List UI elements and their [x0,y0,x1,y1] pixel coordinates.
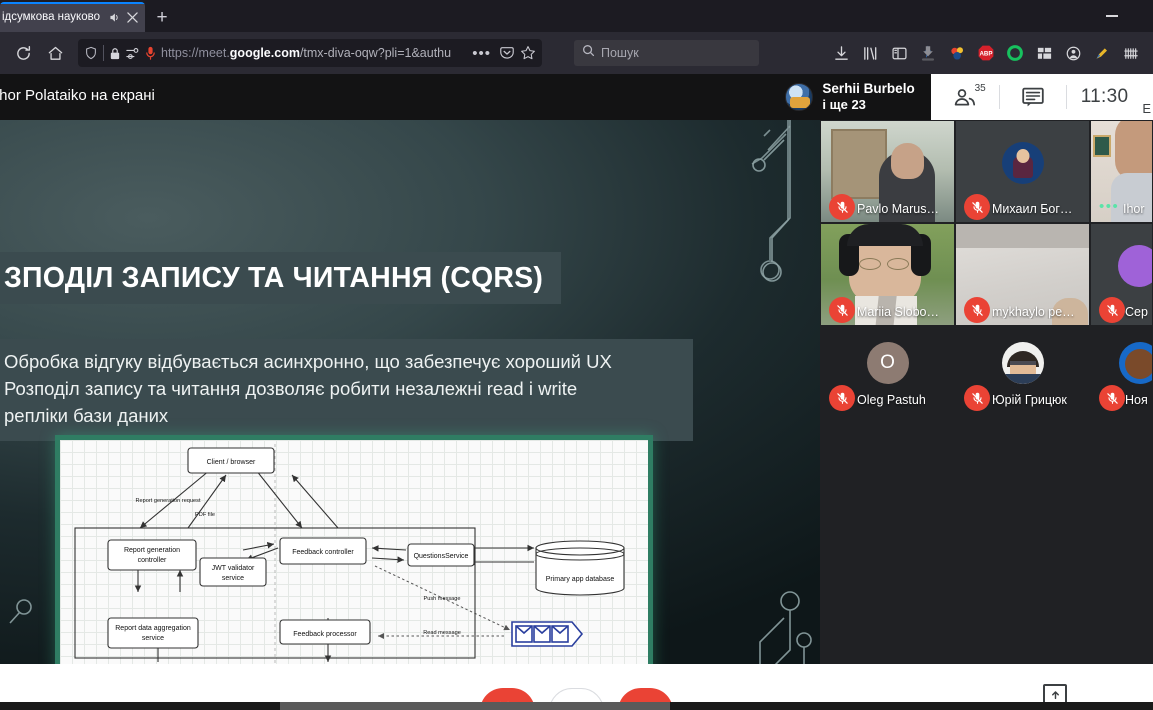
account-icon[interactable] [1063,43,1083,63]
clock-extra-text: Е [1142,101,1151,120]
urlbar-divider [103,45,104,61]
avatar-initial: O [867,342,909,384]
avatar-initial-letter: O [880,352,895,374]
participant-name: mykhaylo pe… [992,305,1075,319]
participant-tile[interactable]: Михаил Бог… [955,120,1090,223]
svg-text:Report generation: Report generation [124,547,180,554]
lock-icon[interactable] [109,47,121,60]
svg-text:Report data aggregation: Report data aggregation [115,625,191,632]
people-button[interactable]: 35 [933,74,999,120]
participant-tile[interactable]: ••• Ihor [1090,120,1153,223]
host-others: і ще 23 [822,97,914,113]
svg-text:ABP: ABP [979,50,992,57]
host-avatar [785,83,813,111]
slide-bullet: Обробка відгуку відбувається асинхронно,… [4,348,677,375]
mic-muted-icon [964,194,990,220]
participant-name: Михаил Бог… [992,202,1072,216]
meet-top-bar: Ihor Polataiko на екрані Serhii Burbelo … [0,74,1153,120]
close-icon[interactable] [125,10,139,24]
people-count: 35 [975,83,986,94]
adblock-plus-icon[interactable]: ABP [976,43,996,63]
scrollbar-thumb[interactable] [280,702,670,710]
diagram-svg: Client / browser Report generation contr… [60,440,648,664]
svg-text:Client / browser: Client / browser [207,459,256,466]
window-minimize-button[interactable] [1101,8,1123,24]
participant-tile[interactable]: Юрій Грицюк [955,326,1090,414]
browser-tabstrip: ідсумкова науково + [0,0,1153,32]
participant-name: Oleg Pastuh [857,393,926,407]
home-icon[interactable] [40,38,70,68]
meeting-clock: 11:30 [1067,86,1143,108]
participant-name: Mariia Slobo… [857,305,939,319]
participant-tile[interactable]: Pavlo Marus… [820,120,955,223]
participants-rail: Pavlo Marus… Михаил Бог… • [820,120,1153,664]
svg-text:Feedback controller: Feedback controller [292,549,354,556]
participant-tile[interactable]: O Oleg Pastuh [820,326,955,414]
browser-navbar: https://meet.google.com/tmx-diva-oqw?pli… [0,32,1153,74]
mic-muted-icon [1099,297,1125,323]
sidebar-icon[interactable] [889,43,909,63]
url-text: https://meet.google.com/tmx-diva-oqw?pli… [161,46,464,60]
participant-row: O Oleg Pastuh [820,326,1153,414]
participant-tile[interactable]: Mariia Slobo… [820,223,955,326]
permissions-icon[interactable] [126,47,140,60]
horizontal-scrollbar[interactable] [0,702,1153,710]
participant-name: Сер [1125,305,1148,319]
mic-muted-icon [829,385,855,411]
colorzilla-icon[interactable] [947,43,967,63]
svg-text:Feedback processor: Feedback processor [293,631,357,638]
svg-text:Primary app database: Primary app database [546,576,615,583]
mic-muted-icon [829,194,855,220]
slide-bullet: репліки бази даних [4,402,677,429]
google-meet-app: Ihor Polataiko на екрані Serhii Burbelo … [0,74,1153,710]
chat-button[interactable] [1000,74,1066,120]
avatar [1118,245,1153,287]
keyboard-icon[interactable] [1121,43,1141,63]
search-input[interactable]: Пошук [574,40,759,66]
grammar-circle-icon[interactable] [1005,43,1025,63]
host-name: Serhii Burbelo [822,81,914,97]
svg-text:controller: controller [138,557,167,564]
star-icon[interactable] [520,45,536,61]
meet-top-actions: 35 11:30 Е [931,74,1153,120]
new-tab-button[interactable]: + [145,2,179,32]
participant-name: Pavlo Marus… [857,202,939,216]
flash-download-icon[interactable] [918,43,938,63]
browser-tab[interactable]: ідсумкова науково [0,2,145,32]
avatar [1002,142,1044,184]
host-chip[interactable]: Serhii Burbelo і ще 23 [775,74,930,120]
tab-title: ідсумкова науково [2,11,103,23]
search-placeholder: Пошук [601,46,639,60]
svg-text:Report generation request: Report generation request [136,498,201,504]
participant-tile[interactable]: Ноя [1090,326,1153,414]
slide-body: Обробка відгуку відбувається асинхронно,… [0,339,693,441]
participant-row: Pavlo Marus… Михаил Бог… • [820,120,1153,223]
search-icon [582,44,595,62]
svg-text:JWT validator: JWT validator [212,565,255,572]
slide-bullet: Розподіл запису та читання дозволяє роби… [4,375,677,402]
reload-icon[interactable] [8,38,38,68]
highlighter-icon[interactable] [1092,43,1112,63]
meet-top-right: Serhii Burbelo і ще 23 35 11:30 Е [775,74,1153,120]
svg-text:Push message: Push message [423,596,460,602]
pocket-icon[interactable] [499,45,515,61]
participant-tile[interactable]: mykhaylo pe… [955,223,1090,326]
participant-name: Ноя [1125,393,1148,407]
library-icon[interactable] [860,43,880,63]
participant-name: Юрій Грицюк [992,393,1067,407]
participant-tile[interactable]: Сер [1090,223,1153,326]
presenting-banner: Ihor Polataiko на екрані [0,87,155,104]
shield-icon[interactable] [84,46,98,60]
mic-muted-icon [964,297,990,323]
participant-row: Mariia Slobo… mykhaylo pe… Сер [820,223,1153,326]
svg-text:service: service [222,575,244,582]
extensions-toolbar: ABP [831,43,1145,63]
svg-text:QuestionsService: QuestionsService [414,553,469,560]
microphone-icon[interactable] [145,46,156,60]
grid-apps-icon[interactable] [1034,43,1054,63]
url-bar[interactable]: https://meet.google.com/tmx-diva-oqw?pli… [78,39,542,67]
svg-text:service: service [142,635,164,642]
more-options-icon[interactable]: ••• [1099,198,1119,215]
avatar [1119,342,1153,384]
svg-text:PDF file: PDF file [195,512,215,518]
presentation-stage[interactable]: ЗПОДІЛ ЗАПИСУ ТА ЧИТАННЯ (CQRS) Обробка … [0,120,820,664]
svg-text:Read message: Read message [423,630,461,636]
tab-active-accent [0,2,145,4]
downloads-icon[interactable] [831,43,851,63]
mic-muted-icon [964,385,990,411]
mic-muted-icon [1099,385,1125,411]
mic-muted-icon [829,297,855,323]
speaker-icon[interactable] [107,10,121,24]
participant-name: Ihor [1123,202,1145,216]
slide-title: ЗПОДІЛ ЗАПИСУ ТА ЧИТАННЯ (CQRS) [0,252,561,304]
ellipsis-icon[interactable]: ••• [469,45,494,62]
avatar [1002,342,1044,384]
cqrs-architecture-diagram: Client / browser Report generation contr… [55,435,653,664]
screen: ідсумкова науково + [0,0,1153,710]
